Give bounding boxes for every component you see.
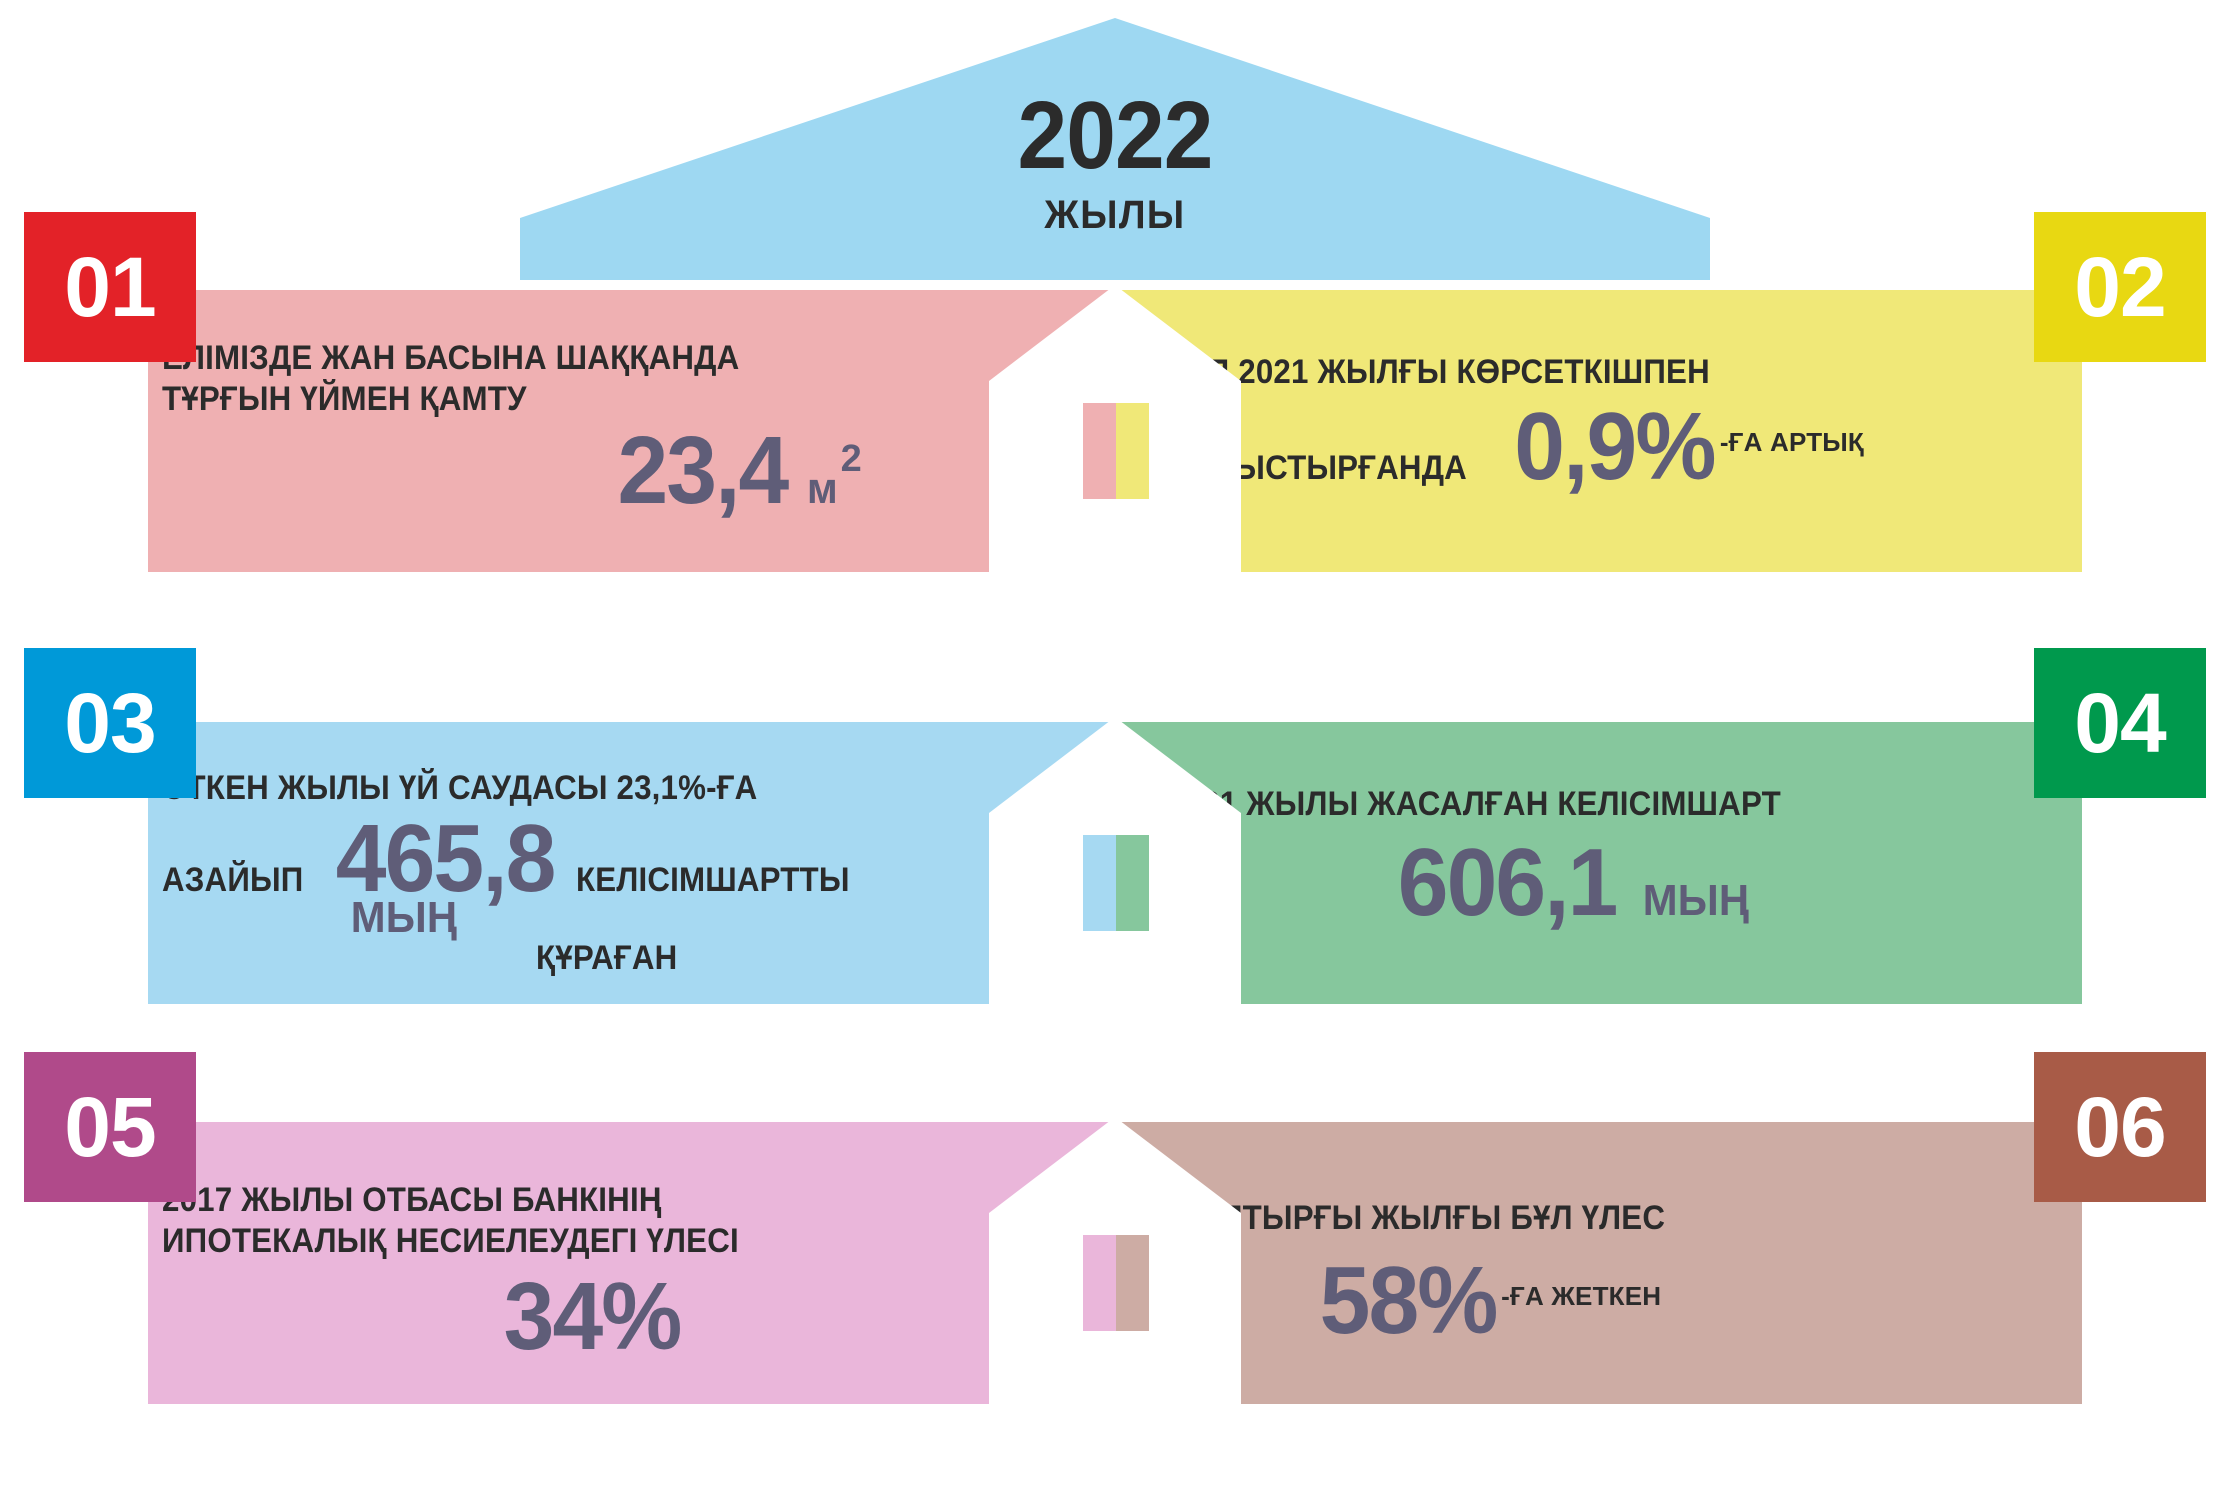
panel-05-value: 34% — [504, 1273, 681, 1361]
panel-background-01: ЕЛІМІЗДЕ ЖАН БАСЫНА ШАҚҚАНДА ТҰРҒЫН ҮЙМЕ… — [148, 290, 1115, 572]
panel-03-label-line2: АЗАЙЫП — [162, 860, 303, 901]
panel-06-value: 58% — [1320, 1257, 1497, 1345]
panel-04-unit: МЫҢ — [1643, 874, 1750, 928]
panel-03-label-line4: ҚҰРАҒАН — [536, 938, 677, 979]
step-badge-02-number: 02 — [2074, 239, 2165, 336]
panel-05-label-line1: 2017 ЖЫЛЫ ОТБАСЫ БАНКІНІҢ — [162, 1180, 843, 1221]
panel-03-label-line1: ӨТКЕН ЖЫЛЫ ҮЙ САУДАСЫ 23,1%-ҒА — [162, 768, 880, 809]
panel-row-2: ӨТКЕН ЖЫЛЫ ҮЙ САУДАСЫ 23,1%-ҒА АЗАЙЫП465… — [148, 722, 2082, 1004]
panel-text-01: ЕЛІМІЗДЕ ЖАН БАСЫНА ШАҚҚАНДА ТҰРҒЫН ҮЙМЕ… — [162, 338, 882, 516]
panel-06-label-line1: БЫЛТЫРҒЫ ЖЫЛҒЫ БҰЛ ҮЛЕС — [1167, 1198, 1977, 1239]
panel-01-value: 23,4 — [618, 427, 788, 515]
panel-05-label-line2: ИПОТЕКАЛЫҚ НЕСИЕЛЕУДЕГІ ҮЛЕСІ — [162, 1221, 843, 1262]
panel-background-04: 2021 ЖЫЛЫ ЖАСАЛҒАН КЕЛІСІМШАРТ 606,1МЫҢ — [1115, 722, 2082, 1004]
panel-02-label-line2: САЛЫСТЫРҒАНДА — [1167, 448, 1467, 489]
step-badge-04[interactable]: 04 — [2034, 648, 2206, 798]
panel-row-1: ЕЛІМІЗДЕ ЖАН БАСЫНА ШАҚҚАНДА ТҰРҒЫН ҮЙМЕ… — [148, 290, 2082, 572]
panel-text-06: БЫЛТЫРҒЫ ЖЫЛҒЫ БҰЛ ҮЛЕС 58%-ҒА ЖЕТКЕН — [1167, 1198, 2047, 1346]
step-badge-03-number: 03 — [64, 675, 155, 772]
step-badge-05-number: 05 — [64, 1079, 155, 1176]
panel-02-suffix: -ҒА АРТЫҚ — [1720, 427, 1864, 457]
step-badge-03[interactable]: 03 — [24, 648, 196, 798]
panel-03-unit: МЫҢ — [351, 891, 458, 945]
panel-background-06: БЫЛТЫРҒЫ ЖЫЛҒЫ БҰЛ ҮЛЕС 58%-ҒА ЖЕТКЕН — [1115, 1122, 2082, 1404]
panel-02-value: 0,9% — [1514, 403, 1714, 491]
step-badge-01[interactable]: 01 — [24, 212, 196, 362]
panel-04-label-line1: 2021 ЖЫЛЫ ЖАСАЛҒАН КЕЛІСІМШАРТ — [1167, 784, 1977, 825]
step-badge-06-number: 06 — [2074, 1079, 2165, 1176]
panel-01-label-line2: ТҰРҒЫН ҮЙМЕН ҚАМТУ — [162, 379, 824, 420]
panel-row-3: 2017 ЖЫЛЫ ОТБАСЫ БАНКІНІҢ ИПОТЕКАЛЫҚ НЕС… — [148, 1122, 2082, 1404]
panel-01-superscript: 2 — [841, 438, 862, 480]
panel-01-unit: м — [807, 462, 838, 516]
panel-04-value: 606,1 — [1398, 839, 1617, 927]
panel-01-label-line1: ЕЛІМІЗДЕ ЖАН БАСЫНА ШАҚҚАНДА — [162, 338, 824, 379]
step-badge-06[interactable]: 06 — [2034, 1052, 2206, 1202]
panel-background-02: БҰЛ 2021 ЖЫЛҒЫ КӨРСЕТКІШПЕН САЛЫСТЫРҒАНД… — [1115, 290, 2082, 572]
panel-03-label-line3: КЕЛІСІМШАРТТЫ — [576, 860, 850, 901]
panel-background-03: ӨТКЕН ЖЫЛЫ ҮЙ САУДАСЫ 23,1%-ҒА АЗАЙЫП465… — [148, 722, 1115, 1004]
step-badge-02[interactable]: 02 — [2034, 212, 2206, 362]
panel-text-05: 2017 ЖЫЛЫ ОТБАСЫ БАНКІНІҢ ИПОТЕКАЛЫҚ НЕС… — [162, 1180, 902, 1361]
panel-text-03: ӨТКЕН ЖЫЛЫ ҮЙ САУДАСЫ 23,1%-ҒА АЗАЙЫП465… — [162, 768, 942, 979]
panel-02-label-line1: БҰЛ 2021 ЖЫЛҒЫ КӨРСЕТКІШПЕН — [1167, 352, 1977, 393]
panel-background-05: 2017 ЖЫЛЫ ОТБАСЫ БАНКІНІҢ ИПОТЕКАЛЫҚ НЕС… — [148, 1122, 1115, 1404]
panel-text-04: 2021 ЖЫЛЫ ЖАСАЛҒАН КЕЛІСІМШАРТ 606,1МЫҢ — [1167, 784, 2047, 928]
roof-triangle-icon — [520, 18, 1710, 280]
step-badge-04-number: 04 — [2074, 675, 2165, 772]
step-badge-01-number: 01 — [64, 239, 155, 336]
infographic-canvas: 2022 ЖЫЛЫ ЕЛІМІЗДЕ ЖАН БАСЫНА ШАҚҚАНДА Т… — [0, 0, 2230, 1506]
step-badge-05[interactable]: 05 — [24, 1052, 196, 1202]
panel-06-suffix: -ҒА ЖЕТКЕН — [1501, 1281, 1661, 1311]
panel-text-02: БҰЛ 2021 ЖЫЛҒЫ КӨРСЕТКІШПЕН САЛЫСТЫРҒАНД… — [1167, 352, 2047, 492]
